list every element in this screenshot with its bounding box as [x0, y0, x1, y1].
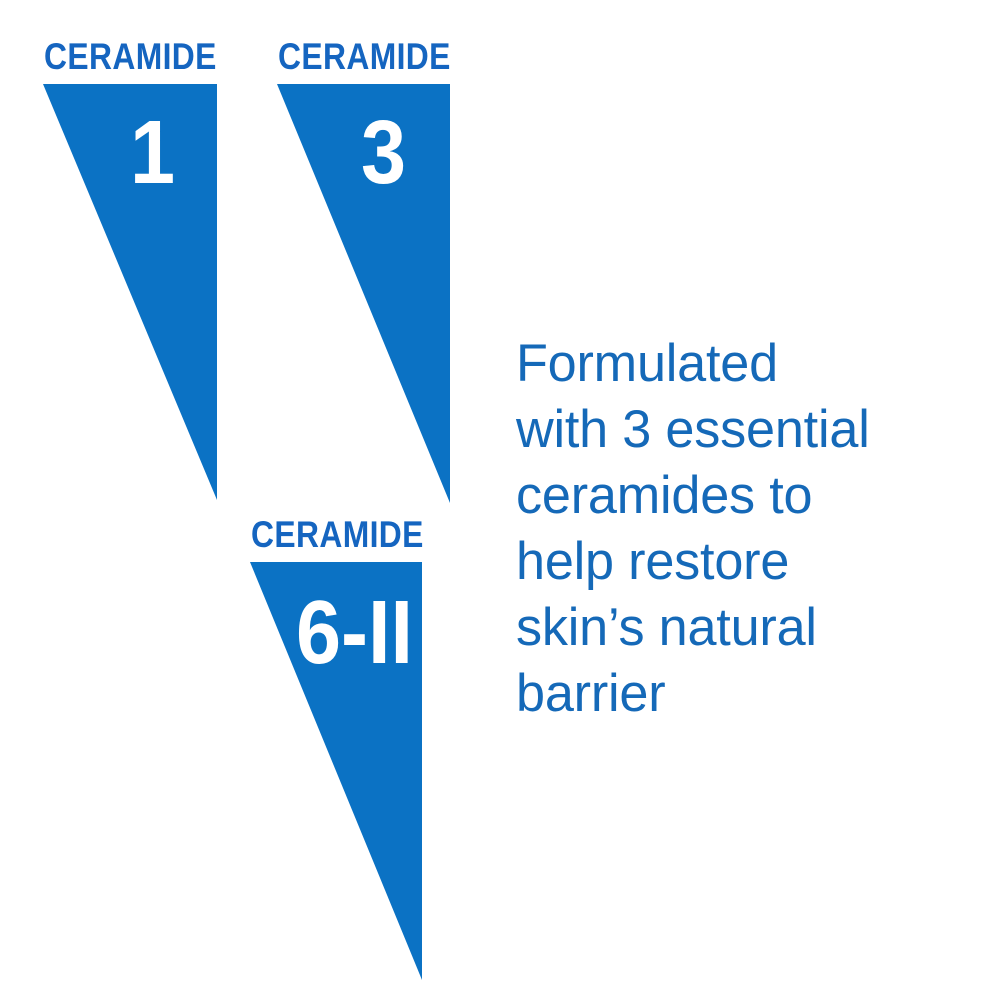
body-copy-line-4: help restore	[516, 529, 961, 595]
body-copy-line-1: Formulated	[516, 331, 961, 397]
body-copy-line-5: skin’s natural	[516, 595, 961, 661]
body-copy-line-6: barrier	[516, 661, 961, 727]
body-copy-line-2: with 3 essential	[516, 397, 961, 463]
pennant-ceramide-6ii: CERAMIDE 6-II	[0, 0, 480, 1000]
pennant-caption-ceramide-6ii: CERAMIDE	[251, 516, 424, 553]
pennant-number-ceramide-6ii: 6-II	[296, 588, 413, 678]
body-copy-line-3: ceramides to	[516, 463, 961, 529]
triangle-shape-ceramide-6ii	[0, 0, 480, 1000]
body-copy-block: Formulated with 3 essential ceramides to…	[516, 331, 968, 727]
infographic-canvas: CERAMIDE 1 CERAMIDE 3 CERAMIDE 6-II Form…	[0, 0, 1000, 1000]
